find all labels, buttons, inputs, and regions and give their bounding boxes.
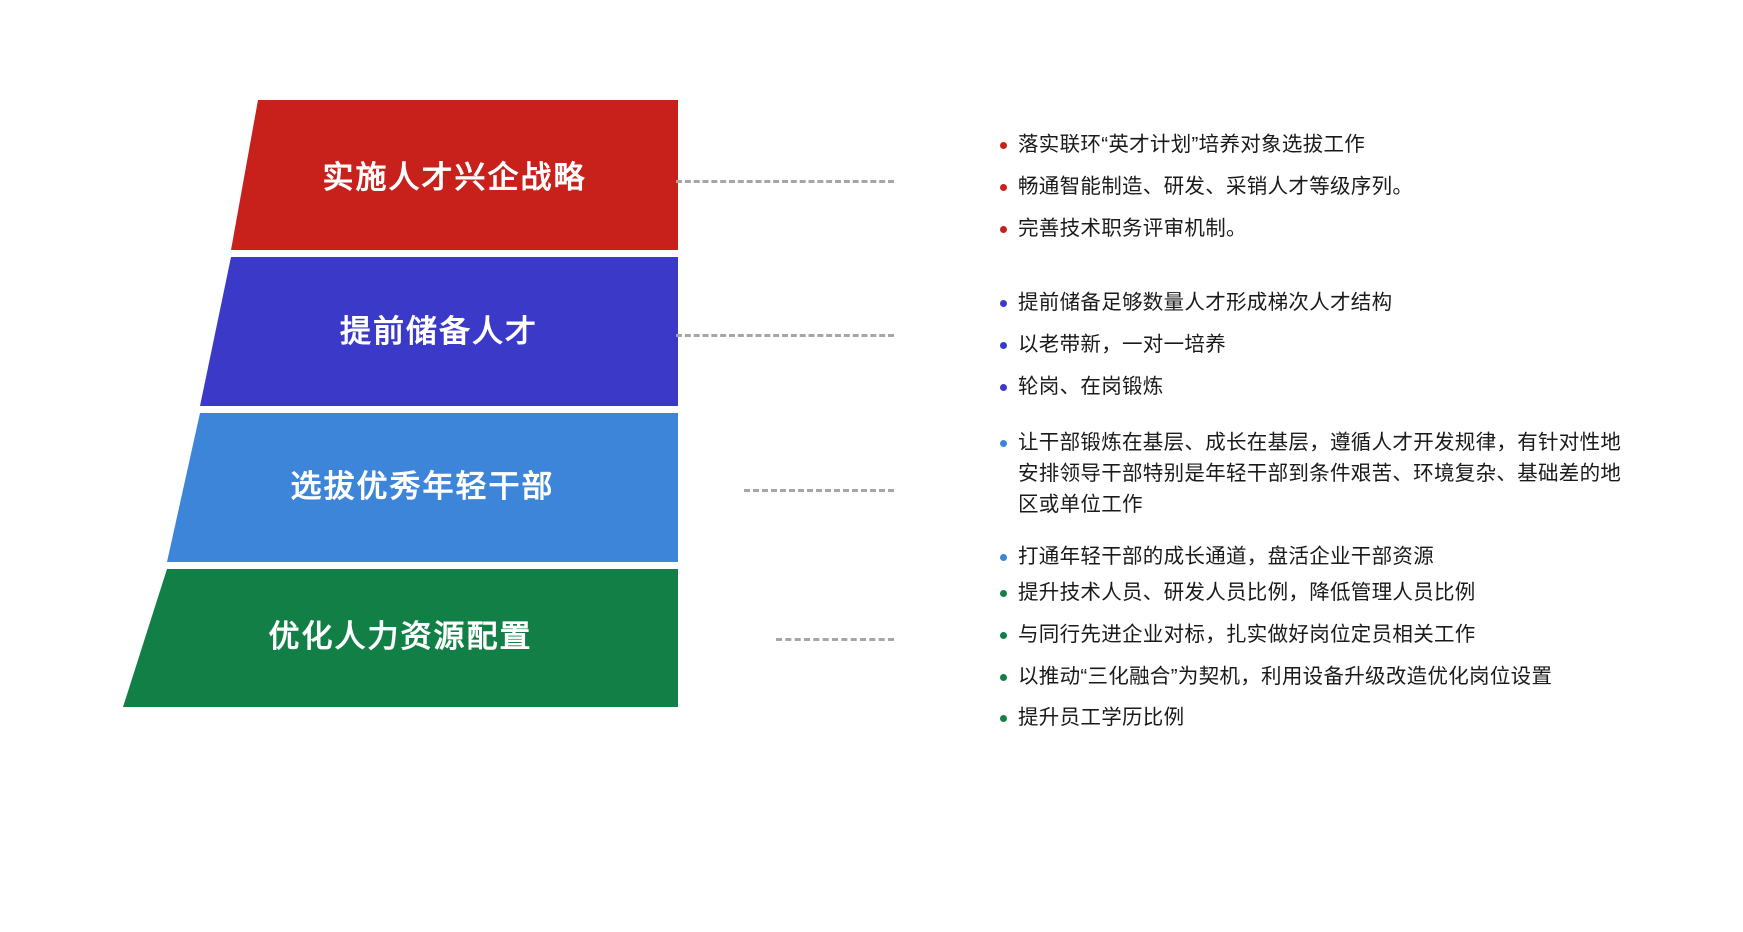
diagram-canvas: 实施人才兴企战略 提前储备人才 选拔优秀年轻干部 优化人力资源配置 落实联环“英… [0, 0, 1743, 932]
list-item: 提前储备足够数量人才形成梯次人才结构 [1000, 288, 1392, 319]
bullet-text: 打通年轻干部的成长通道，盘活企业干部资源 [1018, 542, 1434, 573]
list-item: 提升技术人员、研发人员比例，降低管理人员比例 [1000, 578, 1552, 609]
bullet-dot-icon [1000, 440, 1007, 447]
pyramid-band-1-label: 实施人才兴企战略 [231, 161, 678, 195]
bullet-text: 轮岗、在岗锻炼 [1018, 372, 1164, 403]
list-item: 轮岗、在岗锻炼 [1000, 372, 1392, 403]
bullet-dot-icon [1000, 632, 1007, 639]
bullet-text: 落实联环“英才计划”培养对象选拔工作 [1018, 130, 1365, 161]
bullet-text: 完善技术职务评审机制。 [1018, 214, 1247, 245]
connector-line-4 [776, 638, 894, 641]
bullet-text: 以老带新，一对一培养 [1018, 330, 1226, 361]
list-item: 以推动“三化融合”为契机，利用设备升级改造优化岗位设置 [1000, 662, 1552, 693]
pyramid-svg [0, 0, 900, 932]
pyramid-band-2-label: 提前储备人才 [200, 315, 678, 349]
list-item: 完善技术职务评审机制。 [1000, 214, 1413, 245]
list-item: 畅通智能制造、研发、采销人才等级序列。 [1000, 172, 1413, 203]
list-item: 让干部锻炼在基层、成长在基层，遵循人才开发规律，有针对性地安排领导干部特别是年轻… [1000, 428, 1640, 520]
bullet-group-3: 让干部锻炼在基层、成长在基层，遵循人才开发规律，有针对性地安排领导干部特别是年轻… [1000, 428, 1640, 584]
list-item: 打通年轻干部的成长通道，盘活企业干部资源 [1000, 542, 1640, 573]
bullet-dot-icon [1000, 184, 1007, 191]
bullet-text: 提前储备足够数量人才形成梯次人才结构 [1018, 288, 1392, 319]
bullet-dot-icon [1000, 384, 1007, 391]
bullet-text: 与同行先进企业对标，扎实做好岗位定员相关工作 [1018, 620, 1476, 651]
bullet-dot-icon [1000, 300, 1007, 307]
connector-line-3 [744, 489, 894, 492]
bullet-group-2: 提前储备足够数量人才形成梯次人才结构 以老带新，一对一培养 轮岗、在岗锻炼 [1000, 288, 1392, 413]
pyramid-band-3-label: 选拔优秀年轻干部 [167, 470, 678, 504]
bullet-dot-icon [1000, 590, 1007, 597]
connector-line-2 [676, 334, 894, 337]
pyramid-shape: 实施人才兴企战略 提前储备人才 选拔优秀年轻干部 优化人力资源配置 [0, 0, 900, 932]
bullet-dot-icon [1000, 226, 1007, 233]
bullet-group-4: 提升技术人员、研发人员比例，降低管理人员比例 与同行先进企业对标，扎实做好岗位定… [1000, 578, 1552, 745]
bullet-dot-icon [1000, 554, 1007, 561]
connector-line-1 [676, 180, 894, 183]
bullet-text: 以推动“三化融合”为契机，利用设备升级改造优化岗位设置 [1018, 662, 1552, 693]
list-item: 以老带新，一对一培养 [1000, 330, 1392, 361]
bullet-dot-icon [1000, 142, 1007, 149]
list-item: 与同行先进企业对标，扎实做好岗位定员相关工作 [1000, 620, 1552, 651]
list-item: 落实联环“英才计划”培养对象选拔工作 [1000, 130, 1413, 161]
bullet-group-1: 落实联环“英才计划”培养对象选拔工作 畅通智能制造、研发、采销人才等级序列。 完… [1000, 130, 1413, 255]
bullet-text: 畅通智能制造、研发、采销人才等级序列。 [1018, 172, 1413, 203]
bullet-text: 让干部锻炼在基层、成长在基层，遵循人才开发规律，有针对性地安排领导干部特别是年轻… [1018, 428, 1638, 520]
bullet-dot-icon [1000, 342, 1007, 349]
pyramid-band-4-label: 优化人力资源配置 [123, 620, 678, 654]
list-item: 提升员工学历比例 [1000, 703, 1552, 734]
bullet-text: 提升员工学历比例 [1018, 703, 1184, 734]
bullet-text: 提升技术人员、研发人员比例，降低管理人员比例 [1018, 578, 1476, 609]
bullet-dot-icon [1000, 674, 1007, 681]
bullet-dot-icon [1000, 715, 1007, 722]
